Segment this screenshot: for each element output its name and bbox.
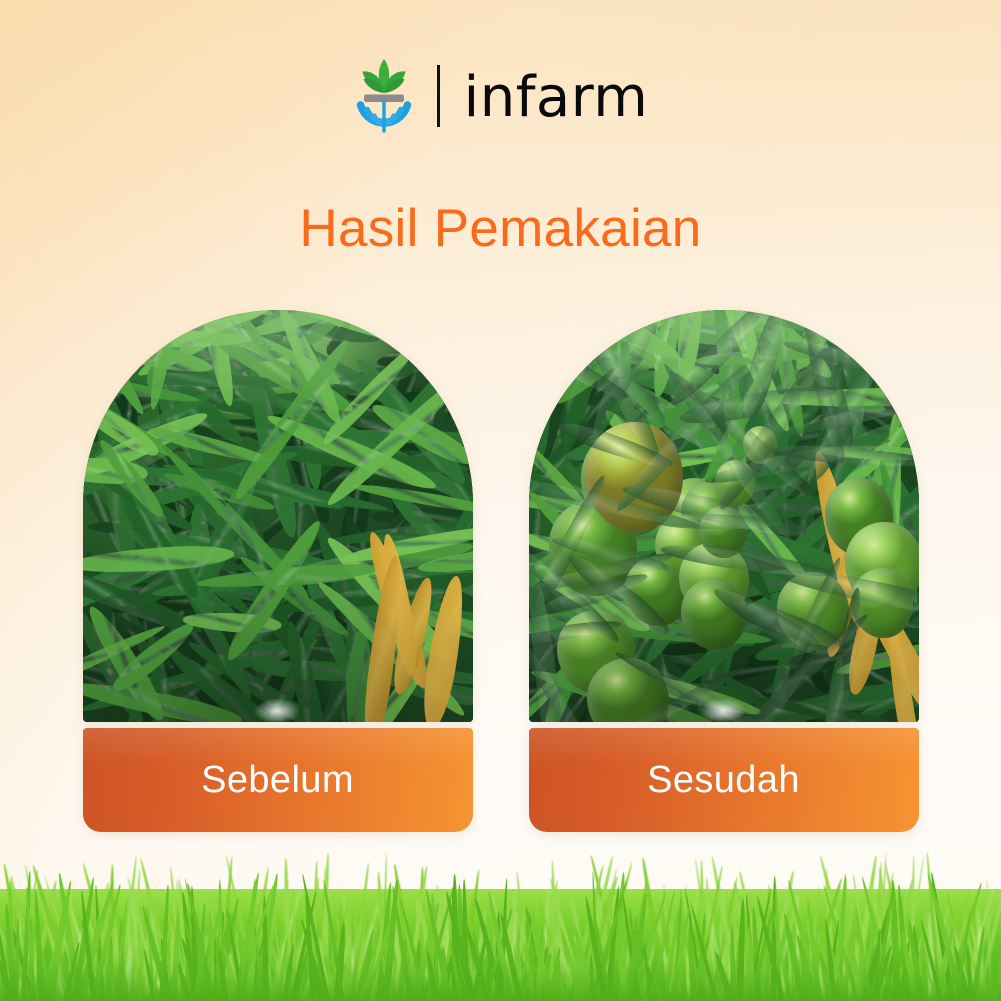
wifi-root-icon [360, 102, 407, 131]
mango-tree-leaves-image [83, 310, 473, 722]
before-photo [83, 310, 473, 722]
grass-band [0, 826, 1001, 1001]
before-label-text: Sebelum [201, 759, 354, 802]
comparison-card-before[interactable]: Sebelum [83, 310, 473, 832]
mango-tree-with-fruit-image [529, 310, 919, 722]
comparison-card-after[interactable]: Sesudah [529, 310, 919, 832]
comparison-cards: Sebelum Sesudah [0, 310, 1001, 832]
brand-wordmark: infarm [464, 70, 649, 126]
after-label-bar: Sesudah [529, 728, 919, 832]
before-label-bar: Sebelum [83, 728, 473, 832]
leaf-icon [362, 59, 405, 93]
page-title: Hasil Pemakaian [0, 198, 1001, 259]
brand-divider [437, 65, 440, 127]
after-label-text: Sesudah [647, 759, 800, 802]
poster-canvas: infarm Hasil Pemakaian Sebelum Sesudah [0, 0, 1001, 1001]
brand-header: infarm [0, 55, 1001, 137]
after-photo [529, 310, 919, 722]
logo-svg [353, 57, 415, 135]
infarm-plant-wifi-logo [353, 57, 415, 135]
